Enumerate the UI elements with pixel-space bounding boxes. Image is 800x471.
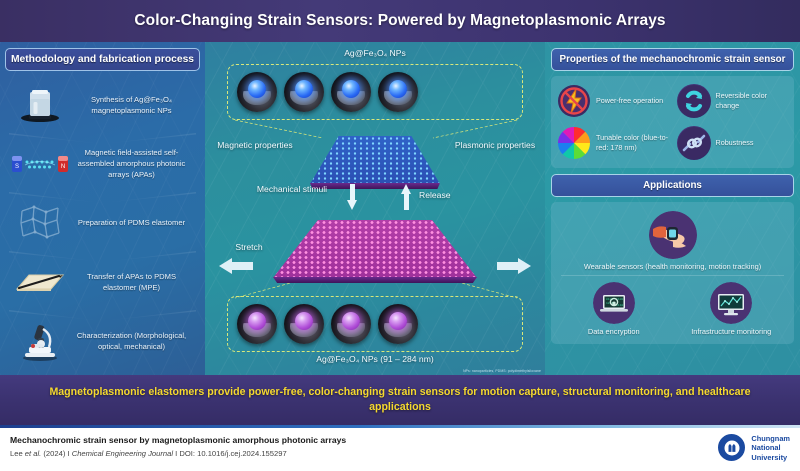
mechanical-stimuli-label: Mechanical stimuli — [253, 184, 331, 195]
doi-label: DOI: — [179, 449, 195, 458]
nanoparticle — [378, 304, 418, 344]
properties-grid: Power-free operation Rev — [555, 81, 790, 163]
journal-name: Chemical Engineering Journal — [72, 449, 173, 458]
methodology-panel-header: Methodology and fabrication process — [5, 48, 200, 71]
doi-value[interactable]: 10.1016/j.cej.2024.155297 — [197, 449, 287, 458]
application-row: 0101101111000110 Data encryption — [555, 278, 790, 339]
nanoparticle — [284, 72, 324, 112]
abbreviation-note: NPs: nanoparticles, PDMS: polydimethylsi… — [463, 369, 541, 373]
conclusion-text: Magnetoplasmonic elastomers provide powe… — [18, 385, 782, 416]
nanoparticle — [284, 304, 324, 344]
plasmonic-properties-label: Plasmonic properties — [447, 140, 543, 151]
fabrication-step: Synthesis of Ag@Fe₃O₄ magnetoplasmonic N… — [5, 75, 200, 134]
top-nanoparticle-label: Ag@Fe₃O₄ NPs — [205, 48, 545, 59]
fabrication-step-label: Characterization (Morphological, optical… — [71, 330, 196, 352]
application-item: Wearable sensors (health monitoring, mot… — [555, 207, 790, 273]
property-label: Tunable color (blue-to-red: 178 nm) — [596, 133, 669, 154]
university-logo: Chungnam National University — [718, 434, 790, 462]
monitor-chart-icon — [710, 282, 752, 324]
stretch-label: Stretch — [221, 242, 277, 253]
property-item: Power-free operation — [555, 81, 671, 121]
fabrication-step-label: Preparation of PDMS elastomer — [71, 217, 196, 228]
release-label: Release — [419, 190, 489, 201]
nanoparticle — [378, 72, 418, 112]
divider — [561, 275, 784, 276]
conclusion-banner: Magnetoplasmonic elastomers provide powe… — [0, 375, 800, 425]
poster-title-bar: Color-Changing Strain Sensors: Powered b… — [0, 0, 800, 42]
properties-applications-panel: Properties of the mechanochromic strain … — [545, 42, 800, 375]
property-label: Power-free operation — [596, 96, 663, 106]
graphical-abstract-poster: Color-Changing Strain Sensors: Powered b… — [0, 0, 800, 471]
fabrication-step-label: Magnetic field-assisted self-assembled a… — [71, 147, 196, 180]
application-label: Wearable sensors (health monitoring, mot… — [584, 262, 761, 271]
properties-card: Power-free operation Rev — [551, 76, 794, 168]
mechanism-diagram-panel: Ag@Fe₃O₄ NPs Magnetic properties Plasmon… — [205, 42, 545, 375]
nanoparticle — [331, 304, 371, 344]
property-item: Tunable color (blue-to-red: 178 nm) — [555, 123, 671, 163]
pink-stretched-array-sheet — [273, 220, 477, 278]
stretch-arrow-right — [497, 258, 531, 274]
property-item: Reversible color change — [675, 81, 791, 121]
nanoparticle — [237, 304, 277, 344]
property-label: Robustness — [716, 138, 754, 148]
property-item: Robustness — [675, 123, 791, 163]
application-item: Infrastructure monitoring — [673, 278, 791, 339]
reversible-arrows-icon — [677, 84, 711, 118]
page-title: Color-Changing Strain Sensors: Powered b… — [134, 12, 665, 30]
svg-text:N: N — [61, 164, 65, 170]
property-label: Reversible color change — [716, 91, 789, 112]
applications-header: Applications — [551, 174, 794, 197]
mechanical-stimuli-arrow — [347, 184, 358, 210]
top-nanoparticle-row — [237, 72, 418, 112]
publication-year: (2024) — [43, 449, 65, 458]
application-label: Infrastructure monitoring — [691, 327, 771, 336]
fabrication-step-label: Synthesis of Ag@Fe₃O₄ magnetoplasmonic N… — [71, 94, 196, 116]
citation-line: Lee et al. (2024) I Chemical Engineering… — [10, 449, 346, 458]
footer-citation-block: Mechanochromic strain sensor by magnetop… — [10, 435, 346, 458]
nanoparticle — [237, 72, 277, 112]
power-free-icon — [557, 84, 591, 118]
fabrication-step: Characterization (Morphological, optical… — [5, 311, 200, 370]
application-label: Data encryption — [588, 327, 640, 336]
svg-text:S: S — [15, 164, 19, 170]
laptop-lock-icon: 0101101111000110 — [593, 282, 635, 324]
fabrication-step-list: Synthesis of Ag@Fe₃O₄ magnetoplasmonic N… — [5, 75, 200, 370]
author-name: Lee — [10, 449, 23, 458]
university-line-1: Chungnam — [751, 434, 790, 443]
fabrication-step: Transfer of APAs to PDMS elastomer (MPE) — [5, 252, 200, 311]
chain-link-icon — [677, 126, 711, 160]
footer-bar: Mechanochromic strain sensor by magnetop… — [0, 425, 800, 471]
polymer-network-icon — [9, 200, 71, 246]
separator: I — [67, 449, 69, 458]
beaker-icon — [9, 82, 71, 128]
stretch-arrow-left — [219, 258, 253, 274]
magnet-field-icon: S N — [9, 141, 71, 187]
footer-divider — [0, 425, 800, 428]
blue-photonic-array-sheet — [310, 136, 440, 184]
fabrication-step: S N Magne — [5, 134, 200, 193]
magnetic-properties-label: Magnetic properties — [207, 140, 303, 151]
paper-title: Mechanochromic strain sensor by magnetop… — [10, 435, 346, 445]
university-seal-icon — [718, 434, 745, 461]
university-name: Chungnam National University — [751, 434, 790, 462]
bottom-nanoparticle-label: Ag@Fe₃O₄ NPs (91 – 284 nm) — [205, 354, 545, 365]
substrate-transfer-icon — [9, 259, 71, 305]
release-arrow — [401, 184, 412, 210]
fabrication-step-label: Transfer of APAs to PDMS elastomer (MPE) — [71, 271, 196, 293]
nanoparticle — [331, 72, 371, 112]
bottom-nanoparticle-row — [237, 304, 418, 344]
properties-header: Properties of the mechanochromic strain … — [551, 48, 794, 71]
microscope-icon — [9, 318, 71, 364]
application-item: 0101101111000110 Data encryption — [555, 278, 673, 339]
fabrication-step: Preparation of PDMS elastomer — [5, 193, 200, 252]
methodology-panel: Methodology and fabrication process — [0, 42, 205, 375]
separator: I — [175, 449, 177, 458]
university-line-3: University — [751, 453, 790, 462]
applications-card: Wearable sensors (health monitoring, mot… — [551, 202, 794, 344]
et-al: et al. — [25, 449, 41, 458]
wrist-wearable-icon — [649, 211, 697, 259]
color-wheel-icon — [557, 126, 591, 160]
poster-body: Methodology and fabrication process — [0, 42, 800, 375]
university-line-2: National — [751, 443, 790, 452]
